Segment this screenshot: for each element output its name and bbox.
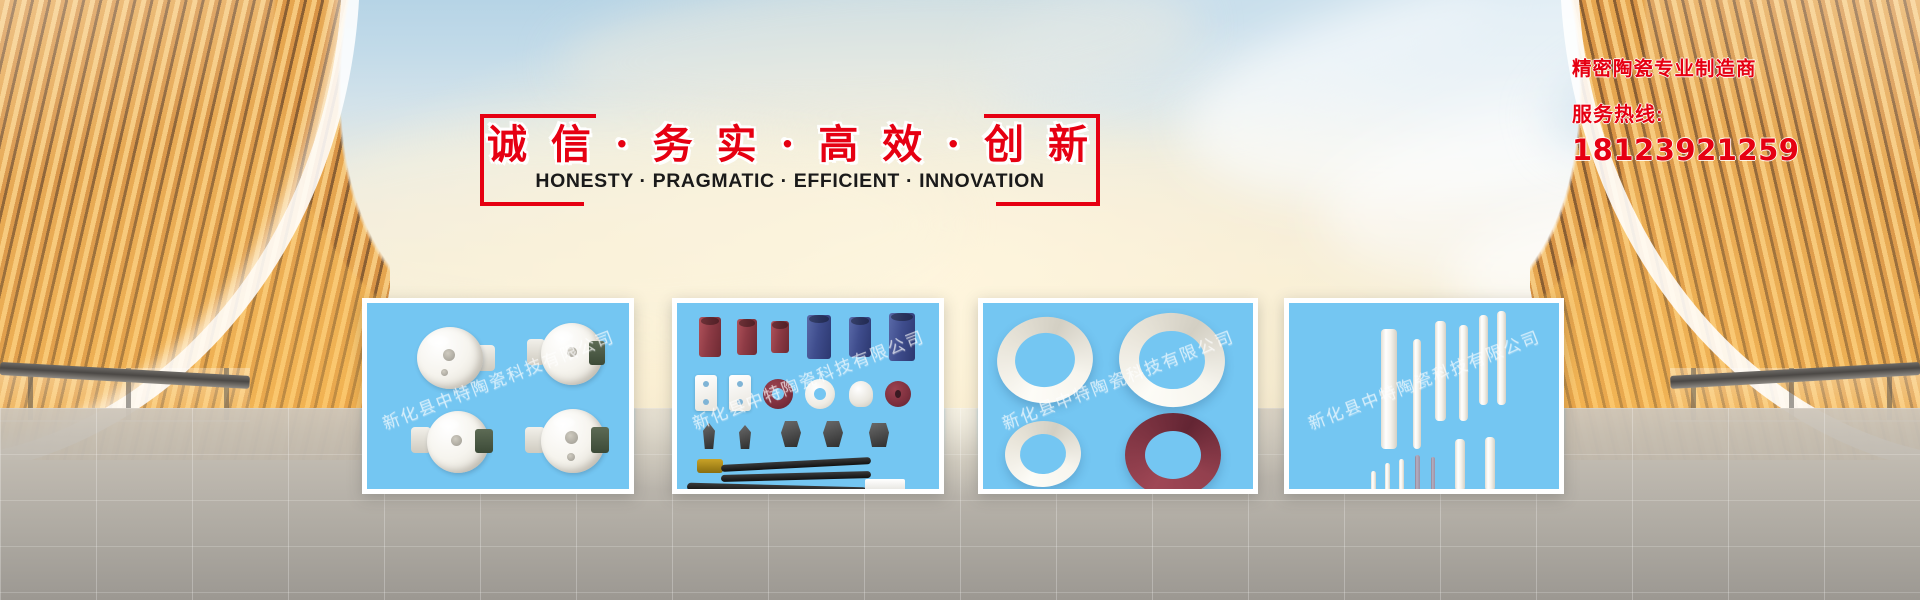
plaza-floor [0,408,1920,600]
contact-block: 精密陶瓷专业制造商 服务热线: 18123921259 [1572,52,1902,167]
hotline-label: 服务热线: [1572,98,1902,127]
product-panel-ceramic-rods[interactable]: 新化县中特陶瓷科技有限公司 [1284,298,1564,494]
product-panel-ceramic-components[interactable]: 新化县中特陶瓷科技有限公司 [672,298,944,494]
slogan-english: HONESTY · PRAGMATIC · EFFICIENT · INNOVA… [480,170,1100,193]
watermark-text: 新化县中特陶瓷科技有限公司 [1284,311,1564,447]
company-tagline: 精密陶瓷专业制造商 [1572,52,1902,81]
hotline-phone-number[interactable]: 18123921259 [1572,133,1902,167]
hero-banner: 诚 信 · 务 实 · 高 效 · 创 新 HONESTY · PRAGMATI… [0,0,1920,600]
product-panel-ceramic-sockets[interactable]: 新化县中特陶瓷科技有限公司 [362,298,634,494]
product-panel-ceramic-rings[interactable]: 新化县中特陶瓷科技有限公司 [978,298,1258,494]
slogan-chinese: 诚 信 · 务 实 · 高 效 · 创 新 [480,112,1100,170]
slogan-block: 诚 信 · 务 实 · 高 效 · 创 新 HONESTY · PRAGMATI… [480,108,1100,208]
